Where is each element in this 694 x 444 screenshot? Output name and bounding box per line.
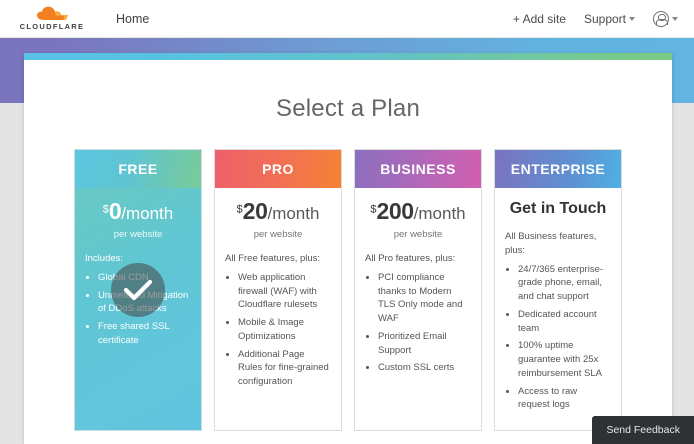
feature-item: Custom SSL certs: [378, 361, 471, 375]
features-intro: All Pro features, plus:: [365, 252, 471, 266]
user-avatar-icon: [653, 11, 669, 27]
feature-list-business: PCI compliance thanks to Modern TLS Only…: [365, 271, 471, 375]
plan-grid: FREE $0/month per website Includes: Glob…: [24, 149, 672, 431]
plan-card-pro[interactable]: PRO $20/month per website All Free featu…: [214, 149, 342, 431]
support-label: Support: [584, 12, 626, 26]
plan-body-free: $0/month per website Includes: Global CD…: [75, 188, 201, 430]
feature-item: 24/7/365 enterprise-grade phone, email, …: [518, 263, 611, 304]
chevron-down-icon: [629, 17, 635, 21]
per-website-label: per website: [225, 229, 331, 240]
features-intro: All Business features, plus:: [505, 230, 611, 258]
features-intro: Includes:: [85, 252, 191, 266]
feature-item: Prioritized Email Support: [378, 330, 471, 358]
plan-header-pro: PRO: [215, 150, 341, 188]
learn-more-row: Learn More: [24, 431, 672, 444]
plan-price-pro: $20/month: [225, 200, 331, 223]
page-title: Select a Plan: [24, 95, 672, 123]
feature-item: 100% uptime guarantee with 25x reimburse…: [518, 339, 611, 380]
nav-item-home[interactable]: Home: [116, 12, 149, 26]
price-period: /month: [267, 204, 319, 223]
feature-list-pro: Web application firewall (WAF) with Clou…: [225, 271, 331, 389]
plan-body-business: $200/month per website All Pro features,…: [355, 188, 481, 430]
plan-header-free: FREE: [75, 150, 201, 188]
plan-header-business: BUSINESS: [355, 150, 481, 188]
top-navbar: CLOUDFLARE Home + Add site Support: [0, 0, 694, 38]
feature-item: Unmetered Mitigation of DDoS attacks: [98, 289, 191, 317]
plan-selection-card: Select a Plan FREE $0/month per website …: [24, 53, 672, 444]
features-intro: All Free features, plus:: [225, 252, 331, 266]
plan-header-enterprise: ENTERPRISE: [495, 150, 621, 188]
plan-contact-label: Get in Touch: [505, 200, 611, 218]
per-website-label: per website: [85, 229, 191, 240]
feature-item: Additional Page Rules for fine-grained c…: [238, 348, 331, 389]
price-amount: 20: [243, 198, 268, 224]
brand-wordmark: CLOUDFLARE: [20, 22, 85, 31]
support-menu[interactable]: Support: [584, 12, 635, 26]
feature-item: Free shared SSL certificate: [98, 320, 191, 348]
plan-card-enterprise[interactable]: ENTERPRISE Get in Touch All Business fea…: [494, 149, 622, 431]
price-period: /month: [414, 204, 466, 223]
price-amount: 0: [109, 198, 121, 224]
feature-item: Web application firewall (WAF) with Clou…: [238, 271, 331, 312]
chevron-down-icon: [672, 17, 678, 21]
account-menu[interactable]: [653, 11, 678, 27]
navbar-right-group: + Add site Support: [513, 11, 678, 27]
add-site-button[interactable]: + Add site: [513, 12, 566, 26]
feature-item: Global CDN: [98, 271, 191, 285]
price-amount: 200: [376, 198, 413, 224]
cloudflare-cloud-logo-icon: [35, 6, 69, 21]
cloudflare-brand[interactable]: CLOUDFLARE: [12, 6, 92, 31]
price-period: /month: [121, 204, 173, 223]
feature-list-enterprise: 24/7/365 enterprise-grade phone, email, …: [505, 263, 611, 413]
feature-item: Access to raw request logs: [518, 385, 611, 413]
screen-root: CLOUDFLARE Home + Add site Support Selec…: [0, 0, 694, 444]
feature-list-free: Global CDN Unmetered Mitigation of DDoS …: [85, 271, 191, 348]
plan-card-free[interactable]: FREE $0/month per website Includes: Glob…: [74, 149, 202, 431]
plan-card-business[interactable]: BUSINESS $200/month per website All Pro …: [354, 149, 482, 431]
feature-item: PCI compliance thanks to Modern TLS Only…: [378, 271, 471, 326]
plan-price-business: $200/month: [365, 200, 471, 223]
feature-item: Mobile & Image Optimizations: [238, 316, 331, 344]
plan-body-pro: $20/month per website All Free features,…: [215, 188, 341, 430]
card-accent-bar: [24, 53, 672, 60]
feature-item: Dedicated account team: [518, 308, 611, 336]
per-website-label: per website: [365, 229, 471, 240]
plan-body-enterprise: Get in Touch All Business features, plus…: [495, 188, 621, 430]
plan-price-free: $0/month: [85, 200, 191, 223]
send-feedback-tab[interactable]: Send Feedback: [592, 416, 694, 444]
